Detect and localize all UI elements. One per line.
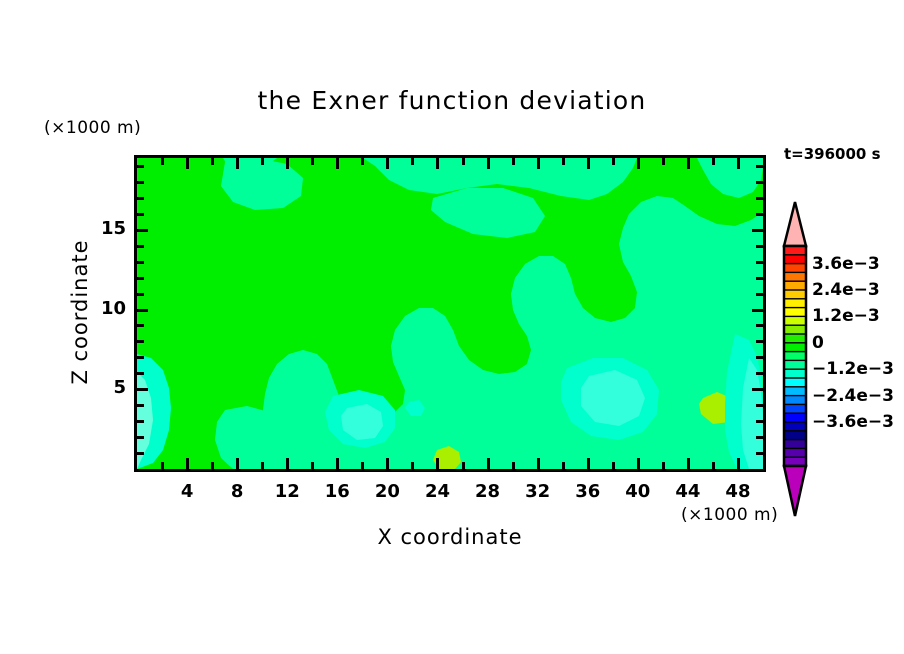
colorbar-band — [784, 290, 806, 299]
colorbar-under-arrow — [784, 466, 806, 516]
colorbar-band — [784, 396, 806, 405]
colorbar-tick-label: −1.2e−3 — [812, 359, 894, 379]
colorbar-band — [784, 387, 806, 396]
contour-field — [137, 158, 763, 469]
colorbar-band — [784, 343, 806, 352]
colorbar-tick-label: 2.4e−3 — [812, 280, 880, 300]
colorbar-tick-label: 0 — [812, 333, 824, 353]
colorbar-band — [784, 431, 806, 440]
colorbar-over-arrow — [784, 202, 806, 246]
colorbar-band — [784, 448, 806, 457]
x-tick-label: 12 — [262, 481, 312, 502]
colorbar-tick-label: 3.6e−3 — [812, 254, 880, 274]
colorbar-band — [784, 264, 806, 273]
chart-title: the Exner function deviation — [0, 86, 904, 115]
contour-plot-area[interactable] — [134, 155, 766, 472]
x-tick-label: 24 — [412, 481, 462, 502]
colorbar[interactable] — [778, 200, 812, 520]
colorbar-band — [784, 255, 806, 264]
x-tick-label: 32 — [513, 481, 563, 502]
colorbar-band — [784, 308, 806, 317]
colorbar-band — [784, 369, 806, 378]
colorbar-band — [784, 316, 806, 325]
colorbar-band — [784, 246, 806, 255]
x-tick-label: 48 — [713, 481, 763, 502]
colorbar-band — [784, 422, 806, 431]
colorbar-band — [784, 272, 806, 281]
timestamp-annotation: t=396000 s — [784, 145, 881, 163]
colorbar-tick-label: −3.6e−3 — [812, 412, 894, 432]
x-axis-title: X coordinate — [134, 525, 766, 549]
colorbar-band — [784, 378, 806, 387]
x-axis-unit-label: (×1000 m) — [681, 505, 778, 525]
colorbar-band — [784, 299, 806, 308]
colorbar-gradient — [778, 200, 812, 520]
colorbar-band — [784, 413, 806, 422]
x-tick-label: 44 — [663, 481, 713, 502]
x-tick-label: 20 — [362, 481, 412, 502]
colorbar-band — [784, 334, 806, 343]
colorbar-tick-label: −2.4e−3 — [812, 386, 894, 406]
y-axis-unit-label: (×1000 m) — [44, 118, 141, 138]
x-tick-label: 16 — [312, 481, 362, 502]
colorbar-band — [784, 352, 806, 361]
x-tick-label: 28 — [463, 481, 513, 502]
x-tick-label: 8 — [212, 481, 262, 502]
colorbar-band — [784, 325, 806, 334]
colorbar-band — [784, 281, 806, 290]
figure-canvas: the Exner function deviation (×1000 m) t… — [0, 0, 904, 654]
colorbar-tick-label: 1.2e−3 — [812, 306, 880, 326]
colorbar-band — [784, 404, 806, 413]
colorbar-labels: 3.6e−32.4e−31.2e−30−1.2e−3−2.4e−3−3.6e−3 — [812, 200, 904, 520]
colorbar-band — [784, 440, 806, 449]
x-tick-label: 40 — [613, 481, 663, 502]
y-axis-title: Z coordinate — [68, 202, 92, 422]
colorbar-band — [784, 360, 806, 369]
x-tick-label: 36 — [563, 481, 613, 502]
x-tick-label: 4 — [162, 481, 212, 502]
